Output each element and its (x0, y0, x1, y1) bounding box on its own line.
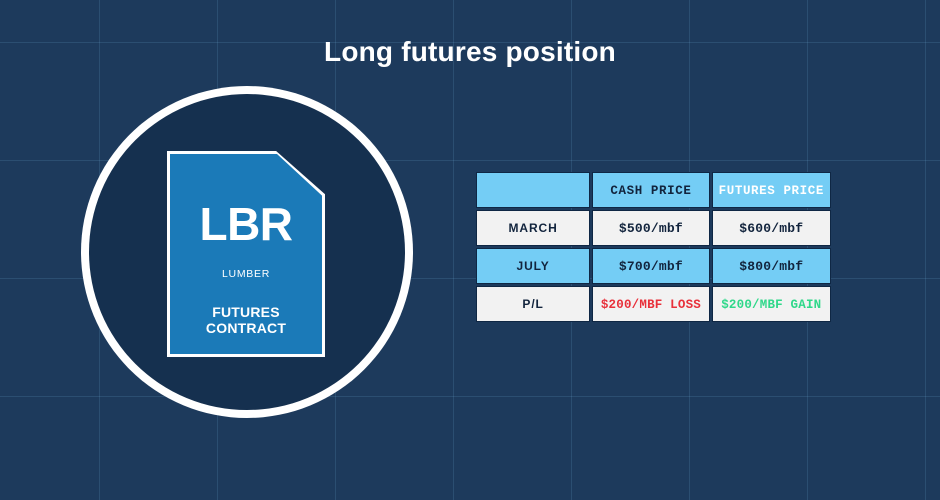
table-header-cash-price-label: CASH PRICE (610, 184, 691, 198)
row-pl-futures-gain-value: $200/MBF GAIN (721, 298, 821, 312)
table-row: MARCH $500/mbf $600/mbf (476, 210, 831, 246)
row-march-futures-cell: $600/mbf (712, 210, 831, 246)
row-pl-cash-loss-value: $200/MBF LOSS (601, 298, 701, 312)
row-march-label: MARCH (509, 221, 558, 235)
document-label-group: LBR LUMBER FUTURES CONTRACT (170, 154, 322, 354)
document-contract-type: FUTURES CONTRACT (170, 304, 322, 336)
row-pl-cash-cell: $200/MBF LOSS (592, 286, 709, 322)
table-header-futures-price-label: FUTURES PRICE (719, 184, 824, 198)
row-pl-label: P/L (522, 297, 543, 311)
row-july-label: JULY (517, 259, 550, 273)
lumber-contract-badge: LBR LUMBER FUTURES CONTRACT (81, 86, 413, 418)
table-row: P/L $200/MBF LOSS $200/MBF GAIN (476, 286, 831, 322)
row-july-cash-cell: $700/mbf (592, 248, 709, 284)
row-july-futures-cell: $800/mbf (712, 248, 831, 284)
table-header-corner-cell (476, 172, 590, 208)
row-march-cash-cell: $500/mbf (592, 210, 709, 246)
document-contract-type-line2: CONTRACT (206, 320, 286, 336)
price-comparison-table: CASH PRICE FUTURES PRICE MARCH $500/mbf … (474, 170, 833, 324)
table-header-cash-price: CASH PRICE (592, 172, 709, 208)
slide-canvas: Long futures position LBR LUMBER FUTURES… (0, 0, 940, 500)
document-commodity-name: LUMBER (170, 268, 322, 280)
row-march-futures-value: $600/mbf (739, 221, 803, 236)
row-july-label-cell: JULY (476, 248, 590, 284)
document-contract-type-line1: FUTURES (212, 304, 280, 320)
row-pl-label-cell: P/L (476, 286, 590, 322)
document-icon: LBR LUMBER FUTURES CONTRACT (167, 151, 325, 357)
table-header-futures-price: FUTURES PRICE (712, 172, 831, 208)
row-pl-futures-cell: $200/MBF GAIN (712, 286, 831, 322)
page-title: Long futures position (0, 36, 940, 68)
document-ticker-symbol: LBR (170, 201, 322, 247)
row-july-futures-value: $800/mbf (739, 259, 803, 274)
row-march-cash-value: $500/mbf (619, 221, 683, 236)
table-header-row: CASH PRICE FUTURES PRICE (476, 172, 831, 208)
row-july-cash-value: $700/mbf (619, 259, 683, 274)
table-row: JULY $700/mbf $800/mbf (476, 248, 831, 284)
row-march-label-cell: MARCH (476, 210, 590, 246)
